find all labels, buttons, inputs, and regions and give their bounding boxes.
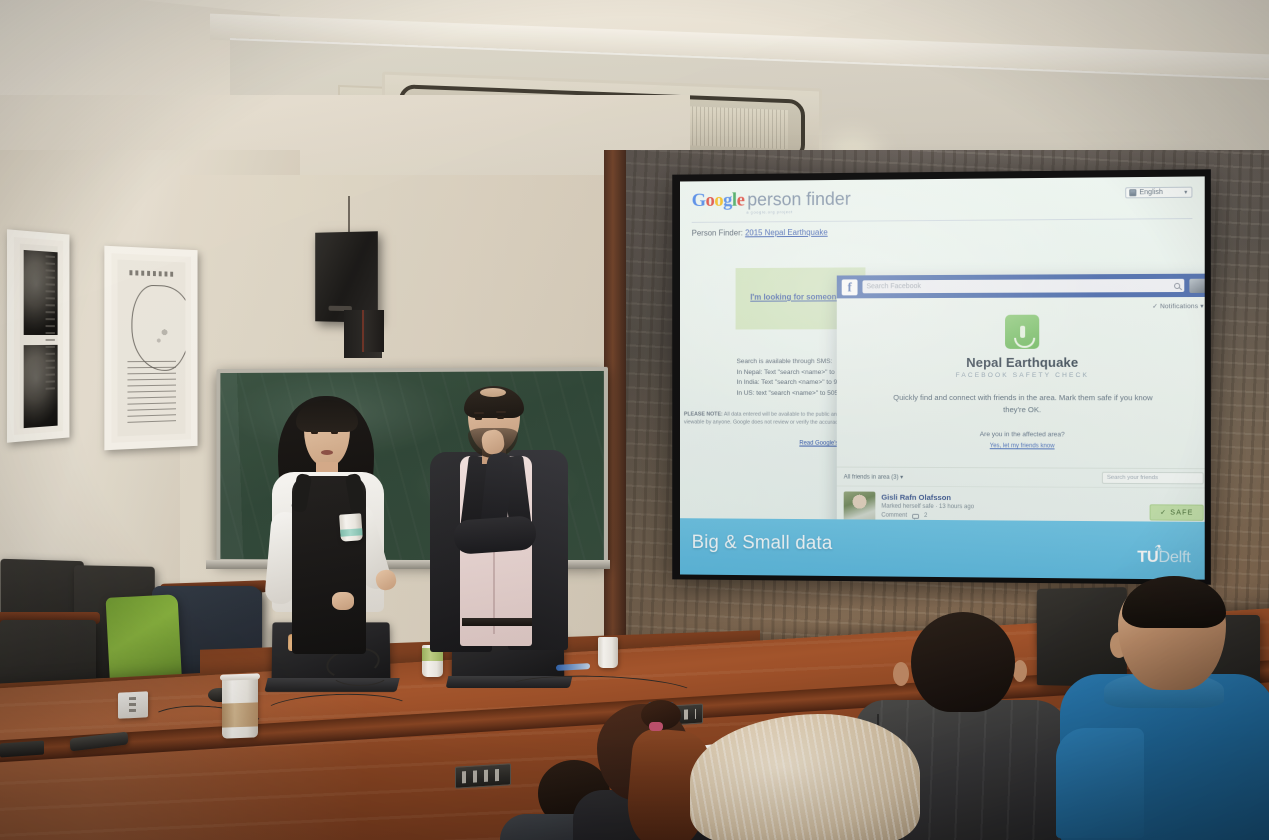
tu-delft-delft: Delft [1158,549,1190,566]
speaker-cable [348,196,350,236]
framed-photographs [7,229,69,442]
map-caption-text [127,361,176,428]
power-adapter [118,691,148,719]
person-finder-wordmark: person finder [747,189,850,210]
white-paper-cup [598,637,618,668]
person-finder-tagline: a google.org project [746,210,850,215]
woman-presenter [258,392,398,662]
woman-hand-holding-cup [332,592,354,610]
pin-glyph [1020,326,1025,338]
facebook-search-input[interactable]: Search Facebook [862,279,1184,293]
safety-check-subtitle: FACEBOOK SAFETY CHECK [837,372,1205,379]
friends-filter-dropdown[interactable]: All friends in area (3) ▾ [844,473,904,480]
comment-bubble-icon [912,513,919,518]
tu-delft-wordmark: TUDelft [1137,549,1190,568]
attendee-head [911,612,1015,712]
chevron-down-icon: ▼ [1183,189,1188,195]
fur-coat-attendee [690,714,920,840]
framed-map-poster [104,246,197,451]
friend-name[interactable]: Gisli Rafn Olafsson [881,493,1143,504]
friend-status: Marked herself safe · 13 hours ago [881,504,1143,512]
woman-mouth [321,450,333,455]
looking-for-someone-link[interactable]: I'm looking for someone [750,292,841,301]
cup-lid [220,673,260,680]
let-friends-know-link[interactable]: Yes, let my friends know [837,443,1205,450]
person-finder-header: Googleperson finder a google.org project… [692,187,1193,215]
attendee-ear-left [893,662,909,686]
man-eye-left [475,417,482,420]
attendee-hoodie-sleeve [1056,728,1144,838]
tu-delft-tu: TU [1137,549,1158,566]
search-icon [1174,282,1180,288]
comment-button[interactable]: Comment [881,513,907,519]
slide-title: Big & Small data [692,532,833,555]
avatar[interactable] [1189,278,1204,292]
speaker-bracket-arm [362,310,384,352]
please-note-label: PLEASE NOTE: [684,412,723,418]
man-eye-right [497,416,504,419]
safety-check-description: Quickly find and connect with friends in… [888,392,1157,416]
man-hair [464,386,524,418]
slide-footer-band: Big & Small data ⚗ TUDelft [680,518,1205,579]
safety-check-title: Nepal Earthquake [837,355,1205,370]
attendee-ear-right [1013,660,1027,682]
conference-room-photo: Googleperson finder a google.org project… [0,0,1269,840]
attendee-hair [1122,576,1226,628]
facebook-top-bar: f Search Facebook [837,274,1205,299]
projection-screen-frame: Googleperson finder a google.org project… [672,169,1211,584]
breadcrumb: Person Finder: 2015 Nepal Earthquake [692,225,1193,238]
cup-sleeve [340,528,362,537]
friends-list-header: All friends in area (3) ▾ Search your fr… [837,467,1205,488]
facebook-logo-icon: f [842,279,858,295]
google-wordmark: Google [692,190,745,211]
man-belt [462,618,532,626]
friend-search-input[interactable]: Search your friends [1102,472,1204,485]
man-folded-arm [453,515,537,555]
frame-map-mat [117,260,185,437]
man-presenter [424,386,574,676]
frame-photos-mat [20,244,58,429]
safety-check-pin-icon [1005,315,1039,349]
paper-cup-in-hand [339,513,363,541]
map-outline [131,284,185,371]
coffee-cup [222,677,258,738]
notifications-toggle[interactable]: ✓ Notifications ▾ [1152,302,1203,310]
tu-delft-logo: ⚗ TUDelft [1137,544,1190,568]
language-select-value-wrap: English [1129,189,1163,196]
google-person-finder-logo: Googleperson finder a google.org project [692,190,851,215]
chinese-caption-text [46,255,55,394]
attendee-hair-tie [649,722,663,731]
affected-area-question: Are you in the affected area? [837,431,1205,439]
language-select[interactable]: English ▼ [1125,187,1192,199]
facebook-safety-check-overlay: f Search Facebook ✓ Notifications ▾ Nepa… [837,274,1205,540]
breadcrumb-link-nepal-earthquake[interactable]: 2015 Nepal Earthquake [745,228,828,238]
header-divider [692,218,1193,223]
map-title-text [129,270,174,277]
facebook-search-placeholder: Search Facebook [866,283,920,290]
breadcrumb-prefix: Person Finder: [692,228,743,237]
language-select-value: English [1139,189,1162,196]
safe-status-badge: ✓ SAFE [1150,504,1204,521]
cup-sleeve [222,703,258,728]
attendee-fur-coat [690,714,920,840]
hoodie-attendee [1060,578,1269,840]
projection-screen: Googleperson finder a google.org project… [680,176,1205,579]
comment-count: 2 [924,513,927,519]
globe-icon [1129,189,1136,196]
friend-details: Gisli Rafn Olafsson Marked herself safe … [881,492,1143,521]
